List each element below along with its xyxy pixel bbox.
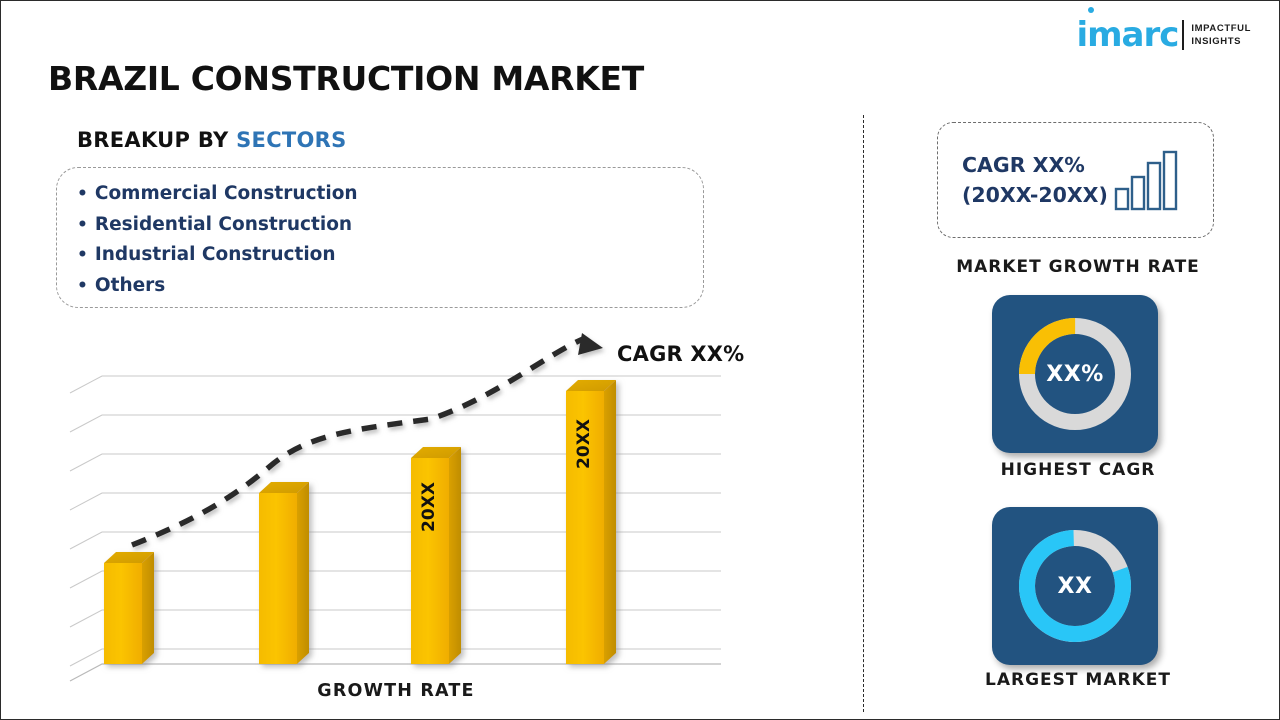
infographic-page: imarc IMPACTFUL INSIGHTS BRAZIL CONSTRUC…: [0, 0, 1280, 720]
logo-tagline-line2: INSIGHTS: [1191, 35, 1251, 48]
chart-baseline: [70, 664, 721, 681]
market-growth-rate-caption: MARKET GROWTH RATE: [878, 257, 1278, 277]
logo-tagline: IMPACTFUL INSIGHTS: [1191, 22, 1251, 48]
list-item: Industrial Construction: [77, 240, 703, 271]
trend-line: [132, 333, 603, 545]
bar-2: [259, 482, 309, 664]
highest-cagr-caption: HIGHEST CAGR: [878, 460, 1278, 480]
breakup-heading: BREAKUP BY SECTORS: [77, 128, 347, 152]
page-title: BRAZIL CONSTRUCTION MARKET: [48, 59, 644, 98]
logo-tagline-line1: IMPACTFUL: [1191, 22, 1251, 35]
chart-x-axis-label: GROWTH RATE: [1, 681, 791, 701]
cagr-box-line2: (20XX-20XX): [962, 180, 1108, 210]
chart-cagr-annotation: CAGR XX%: [617, 342, 744, 366]
trend-arrowhead: [578, 333, 603, 355]
chart-gridlines: [70, 376, 721, 666]
list-item: Others: [77, 271, 703, 302]
bar-chart-icon: [1114, 149, 1180, 216]
list-item: Commercial Construction: [77, 179, 703, 210]
logo-divider: [1182, 20, 1184, 50]
logo-wordmark: imarc: [1076, 18, 1178, 52]
bar-3-label: 20XX: [419, 482, 439, 532]
bar-1: [104, 552, 154, 664]
highest-cagr-card: XX%: [992, 295, 1158, 453]
bar-4-label: 20XX: [574, 419, 594, 469]
market-growth-rate-box: CAGR XX% (20XX-20XX): [937, 122, 1214, 238]
sectors-list: Commercial Construction Residential Cons…: [77, 179, 703, 301]
chart-svg: 20XX 20XX: [56, 331, 756, 691]
cagr-box-line1: CAGR XX%: [962, 150, 1108, 180]
sectors-list-box: Commercial Construction Residential Cons…: [56, 167, 704, 308]
highest-cagr-value: XX%: [992, 295, 1158, 453]
bar-3: [411, 447, 461, 664]
list-item: Residential Construction: [77, 210, 703, 241]
cagr-box-text: CAGR XX% (20XX-20XX): [962, 150, 1108, 210]
imarc-logo: imarc IMPACTFUL INSIGHTS: [1076, 13, 1251, 57]
largest-market-caption: LARGEST MARKET: [878, 670, 1278, 690]
logo-dot-icon: [1088, 7, 1094, 13]
growth-rate-bar-chart: 20XX 20XX: [56, 331, 756, 691]
breakup-heading-prefix: BREAKUP BY: [77, 128, 229, 152]
largest-market-card: XX: [992, 507, 1158, 665]
vertical-divider: [863, 115, 864, 712]
breakup-heading-accent: SECTORS: [236, 128, 346, 152]
largest-market-value: XX: [992, 507, 1158, 665]
